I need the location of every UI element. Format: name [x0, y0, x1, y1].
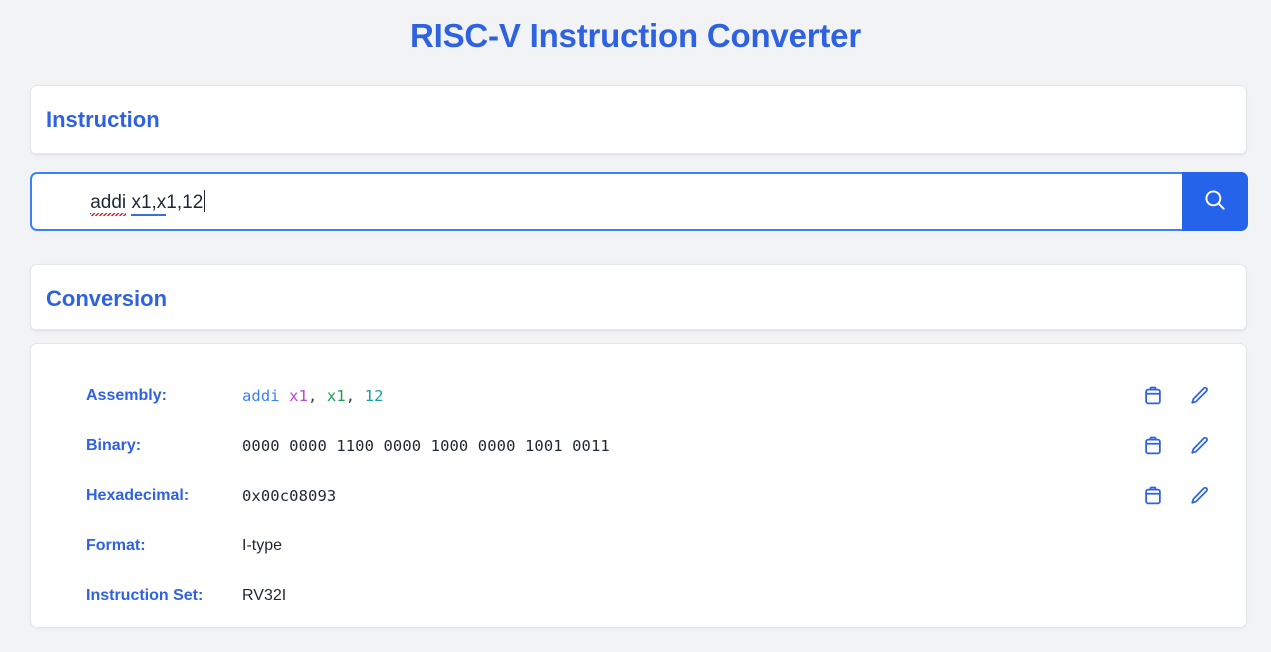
- conversion-card: Conversion: [30, 264, 1247, 331]
- app-root: RISC-V Instruction Converter Instruction…: [0, 0, 1271, 652]
- instruction-input[interactable]: addi x1,x1,12: [30, 172, 1182, 231]
- conversion-row-actions: [1141, 384, 1211, 408]
- instruction-card-title: Instruction: [46, 106, 160, 134]
- asm-token-reg2: x1: [327, 387, 346, 405]
- conversion-row-value: addi x1, x1, 12: [242, 387, 384, 405]
- edit-icon: [1188, 435, 1210, 457]
- instruction-search-row: addi x1,x1,12: [30, 172, 1248, 231]
- copy-button[interactable]: [1141, 384, 1165, 408]
- instruction-input-grammar-token: x1,x: [131, 192, 166, 216]
- text-caret: [204, 190, 205, 212]
- conversion-row-label: Hexadecimal:: [86, 487, 189, 505]
- copy-icon: [1142, 385, 1164, 407]
- conversion-row-value: RV32I: [242, 587, 286, 605]
- edit-icon: [1188, 385, 1210, 407]
- edit-button[interactable]: [1187, 434, 1211, 458]
- edit-button[interactable]: [1187, 484, 1211, 508]
- search-icon: [1202, 187, 1228, 216]
- conversion-row-value: 0x00c08093: [242, 487, 336, 505]
- search-button[interactable]: [1182, 172, 1248, 231]
- conversion-row-label: Assembly:: [86, 387, 167, 405]
- conversion-row-label: Format:: [86, 537, 146, 555]
- asm-token-reg1: x1: [289, 387, 308, 405]
- edit-icon: [1188, 485, 1210, 507]
- copy-icon: [1142, 435, 1164, 457]
- conversion-results-list: Assembly:addi x1, x1, 12Binary:0000 0000…: [31, 344, 1246, 621]
- instruction-input-text: addi x1,x1,12: [48, 172, 205, 231]
- asm-token-imm: 12: [365, 387, 384, 405]
- instruction-input-rest: 1,12: [166, 192, 203, 213]
- conversion-row-label: Instruction Set:: [86, 587, 203, 605]
- conversion-row-label: Binary:: [86, 437, 141, 455]
- conversion-card-title: Conversion: [46, 285, 167, 313]
- conversion-row-actions: [1141, 434, 1211, 458]
- conversion-row: Binary:0000 0000 1100 0000 1000 0000 100…: [31, 421, 1246, 471]
- conversion-row: Format:I-type: [31, 521, 1246, 571]
- conversion-row-value: 0000 0000 1100 0000 1000 0000 1001 0011: [242, 437, 610, 455]
- conversion-row-actions: [1141, 484, 1211, 508]
- page-title: RISC-V Instruction Converter: [0, 14, 1271, 58]
- asm-token-op: addi: [242, 387, 280, 405]
- edit-button[interactable]: [1187, 384, 1211, 408]
- asm-token-plain: [355, 387, 364, 405]
- conversion-row: Assembly:addi x1, x1, 12: [31, 371, 1246, 421]
- conversion-row: Hexadecimal:0x00c08093: [31, 471, 1246, 521]
- copy-button[interactable]: [1141, 484, 1165, 508]
- copy-button[interactable]: [1141, 434, 1165, 458]
- asm-token-plain: [280, 387, 289, 405]
- conversion-results-card: Assembly:addi x1, x1, 12Binary:0000 0000…: [30, 343, 1247, 628]
- instruction-input-misspelled-token: addi: [90, 192, 126, 216]
- conversion-row: Instruction Set:RV32I: [31, 571, 1246, 621]
- instruction-card: Instruction: [30, 85, 1247, 155]
- copy-icon: [1142, 485, 1164, 507]
- conversion-row-value: I-type: [242, 537, 282, 555]
- asm-token-punc: ,: [346, 387, 355, 405]
- asm-token-plain: [317, 387, 326, 405]
